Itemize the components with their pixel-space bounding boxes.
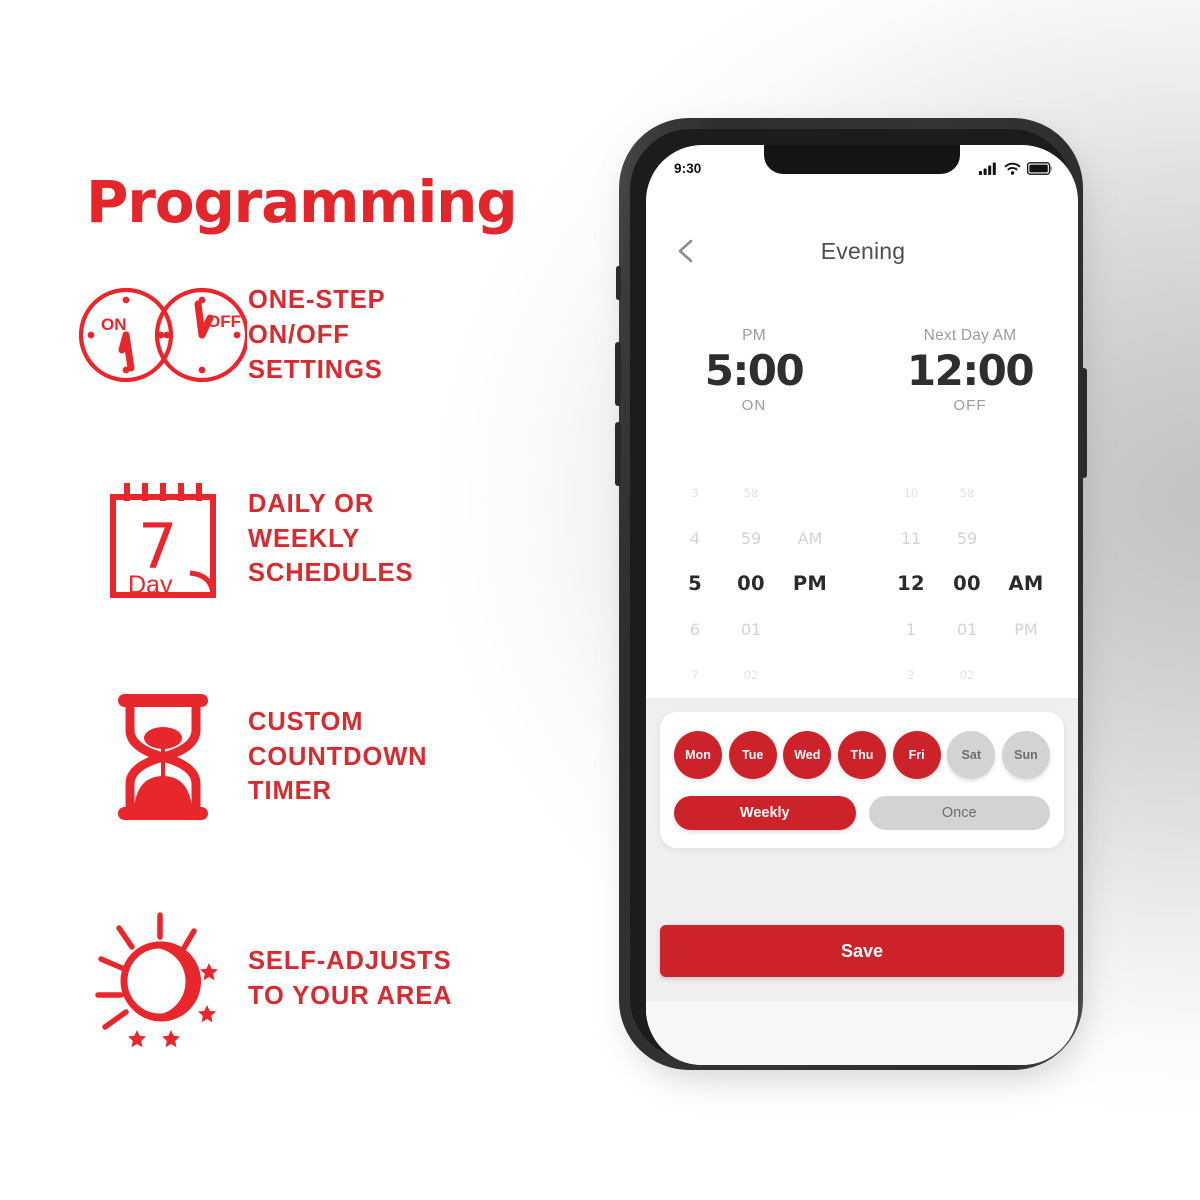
time-summary: PM 5:00 ON Next Day AM 12:00 OFF xyxy=(646,327,1078,414)
picker-cell-selected[interactable]: 00 xyxy=(939,561,995,607)
phone-bezel: 9:30 xyxy=(630,129,1072,1059)
phone-screen: 9:30 xyxy=(646,145,1078,1065)
day-pill-thu[interactable]: Thu xyxy=(838,731,886,779)
page-title-evening: Evening xyxy=(674,238,1052,265)
summary-off-period: Next Day AM xyxy=(862,327,1078,345)
feature-label-daily-weekly: DAILY OR WEEKLY SCHEDULES xyxy=(248,487,413,592)
volume-down-button[interactable] xyxy=(615,422,621,486)
picker-cell[interactable]: 01 xyxy=(723,607,779,653)
picker-cell[interactable]: 10 xyxy=(883,470,939,516)
picker-on-hours[interactable]: 3 4 5 6 7 xyxy=(667,470,723,698)
picker-cell[interactable] xyxy=(995,470,1057,516)
picker-cell[interactable]: 59 xyxy=(939,516,995,562)
calendar-word: Day xyxy=(128,571,173,599)
silence-switch-button[interactable] xyxy=(616,266,621,300)
day-pill-mon[interactable]: Mon xyxy=(674,731,722,779)
summary-on-period: PM xyxy=(646,327,862,345)
picker-cell[interactable] xyxy=(779,607,841,653)
picker-cell[interactable]: PM xyxy=(995,607,1057,653)
summary-on-state: ON xyxy=(646,397,862,414)
day-pill-sun[interactable]: Sun xyxy=(1002,731,1050,779)
repeat-button-once[interactable]: Once xyxy=(869,796,1051,830)
repeat-button-weekly[interactable]: Weekly xyxy=(674,796,856,830)
cellular-signal-icon xyxy=(979,162,998,175)
on-off-clocks-icon: ON OFF xyxy=(78,284,248,386)
summary-off-time: 12:00 xyxy=(862,348,1078,393)
picker-on[interactable]: 3 4 5 6 7 58 59 00 01 02 xyxy=(646,470,862,698)
volume-up-button[interactable] xyxy=(615,342,621,406)
power-button[interactable] xyxy=(1081,368,1087,478)
picker-cell[interactable]: 02 xyxy=(723,652,779,698)
picker-cell[interactable] xyxy=(779,470,841,516)
picker-off[interactable]: 10 11 12 1 2 58 59 00 01 02 xyxy=(862,470,1078,698)
feature-label-one-step-on-off: ONE-STEP ON/OFF SETTINGS xyxy=(248,283,386,388)
picker-cell[interactable]: 7 xyxy=(667,652,723,698)
picker-cell[interactable]: 58 xyxy=(723,470,779,516)
picker-cell[interactable]: 59 xyxy=(723,516,779,562)
feature-row-daily-weekly: 7 Day DAILY OR WEEKLY SCHEDULES xyxy=(78,475,578,603)
repeat-selector: Weekly Once xyxy=(674,796,1050,830)
day-pill-tue[interactable]: Tue xyxy=(729,731,777,779)
phone-mockup: 9:30 xyxy=(619,118,1093,1080)
feature-label-countdown-timer: CUSTOM COUNTDOWN TIMER xyxy=(248,705,428,810)
status-bar: 9:30 xyxy=(646,145,1078,185)
picker-cell-selected[interactable]: 5 xyxy=(667,561,723,607)
clock-on-label: ON xyxy=(101,315,127,334)
feature-label-self-adjusts: SELF-ADJUSTS TO YOUR AREA xyxy=(248,944,452,1014)
picker-cell-selected[interactable]: PM xyxy=(779,561,841,607)
picker-cell[interactable]: AM xyxy=(779,516,841,562)
summary-on-column[interactable]: PM 5:00 ON xyxy=(646,327,862,414)
phone-body: 9:30 xyxy=(619,118,1083,1070)
picker-cell[interactable] xyxy=(995,516,1057,562)
sun-icon xyxy=(78,905,248,1053)
day-pill-fri[interactable]: Fri xyxy=(893,731,941,779)
feature-row-countdown-timer: CUSTOM COUNTDOWN TIMER xyxy=(78,690,578,824)
picker-cell[interactable]: 58 xyxy=(939,470,995,516)
picker-off-period[interactable]: AM PM xyxy=(995,470,1057,698)
picker-cell[interactable]: 11 xyxy=(883,516,939,562)
feature-row-self-adjusts: SELF-ADJUSTS TO YOUR AREA xyxy=(78,905,578,1053)
picker-cell[interactable]: 1 xyxy=(883,607,939,653)
lower-section: Mon Tue Wed Thu Fri Sat Sun Weekly Once xyxy=(646,698,1078,1065)
picker-cell[interactable]: 01 xyxy=(939,607,995,653)
day-selector: Mon Tue Wed Thu Fri Sat Sun xyxy=(674,731,1050,779)
bottom-safe-area xyxy=(646,1001,1078,1065)
day-pill-wed[interactable]: Wed xyxy=(783,731,831,779)
feature-row-one-step-on-off: ON OFF ONE-STEP ON/OFF SETTINGS xyxy=(78,283,578,388)
clock-off-label: OFF xyxy=(207,312,241,331)
picker-cell[interactable]: 02 xyxy=(939,652,995,698)
left-feature-panel: Programming ON OFF xyxy=(0,0,600,1200)
picker-on-period[interactable]: AM PM xyxy=(779,470,841,698)
picker-cell[interactable]: 3 xyxy=(667,470,723,516)
status-bar-time: 9:30 xyxy=(674,161,701,176)
picker-off-hours[interactable]: 10 11 12 1 2 xyxy=(883,470,939,698)
picker-off-minutes[interactable]: 58 59 00 01 02 xyxy=(939,470,995,698)
picker-cell[interactable] xyxy=(779,652,841,698)
schedule-card: Mon Tue Wed Thu Fri Sat Sun Weekly Once xyxy=(660,712,1064,848)
page-title: Programming xyxy=(86,168,517,236)
save-button[interactable]: Save xyxy=(660,925,1064,977)
picker-cell[interactable] xyxy=(995,652,1057,698)
summary-off-column[interactable]: Next Day AM 12:00 OFF xyxy=(862,327,1078,414)
status-bar-icons xyxy=(979,162,1052,175)
hourglass-icon xyxy=(78,690,248,824)
battery-icon xyxy=(1027,162,1052,175)
day-pill-sat[interactable]: Sat xyxy=(947,731,995,779)
nav-header: Evening xyxy=(646,223,1078,279)
picker-on-minutes[interactable]: 58 59 00 01 02 xyxy=(723,470,779,698)
wifi-icon xyxy=(1004,162,1021,175)
summary-on-time: 5:00 xyxy=(646,348,862,393)
picker-cell-selected[interactable]: AM xyxy=(995,561,1057,607)
picker-cell-selected[interactable]: 12 xyxy=(883,561,939,607)
picker-cell[interactable]: 4 xyxy=(667,516,723,562)
seven-day-calendar-icon: 7 Day xyxy=(78,475,248,603)
summary-off-state: OFF xyxy=(862,397,1078,414)
time-pickers: 3 4 5 6 7 58 59 00 01 02 xyxy=(646,470,1078,698)
picker-cell[interactable]: 2 xyxy=(883,652,939,698)
picker-cell-selected[interactable]: 00 xyxy=(723,561,779,607)
picker-cell[interactable]: 6 xyxy=(667,607,723,653)
